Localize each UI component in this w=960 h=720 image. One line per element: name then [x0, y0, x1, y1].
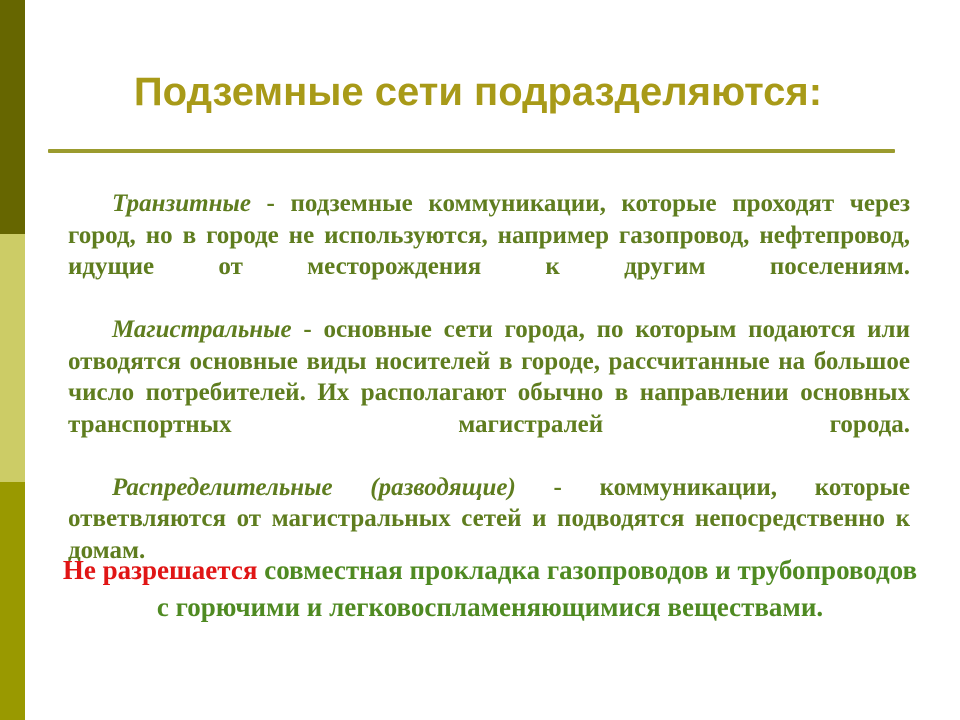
title-divider	[48, 149, 895, 153]
sidebar-band-bottom	[0, 482, 25, 720]
paragraph-transit: Транзитные - подземные коммуникации, кот…	[68, 188, 910, 314]
term-transit: Транзитные	[112, 190, 251, 217]
warning-area: Не разрешается совместная прокладка газо…	[60, 552, 920, 626]
title-area: Подземные сети подразделяются:	[48, 68, 908, 116]
warning-accent-text: Не разрешается	[63, 555, 258, 585]
left-accent-sidebar	[0, 0, 25, 720]
term-distribution: Распределительные (разводящие)	[112, 474, 516, 501]
sidebar-band-top	[0, 0, 25, 234]
slide-canvas: Подземные сети подразделяются: Транзитны…	[0, 0, 960, 720]
paragraph-trunk: Магистральные - основные сети города, по…	[68, 314, 910, 472]
warning-statement: Не разрешается совместная прокладка газо…	[60, 552, 920, 626]
body-text-block: Транзитные - подземные коммуникации, кот…	[68, 188, 910, 598]
page-title: Подземные сети подразделяются:	[48, 68, 908, 116]
sidebar-band-middle	[0, 234, 25, 482]
term-trunk: Магистральные	[112, 316, 292, 343]
warning-body-text: совместная прокладка газопроводов и труб…	[157, 555, 917, 622]
